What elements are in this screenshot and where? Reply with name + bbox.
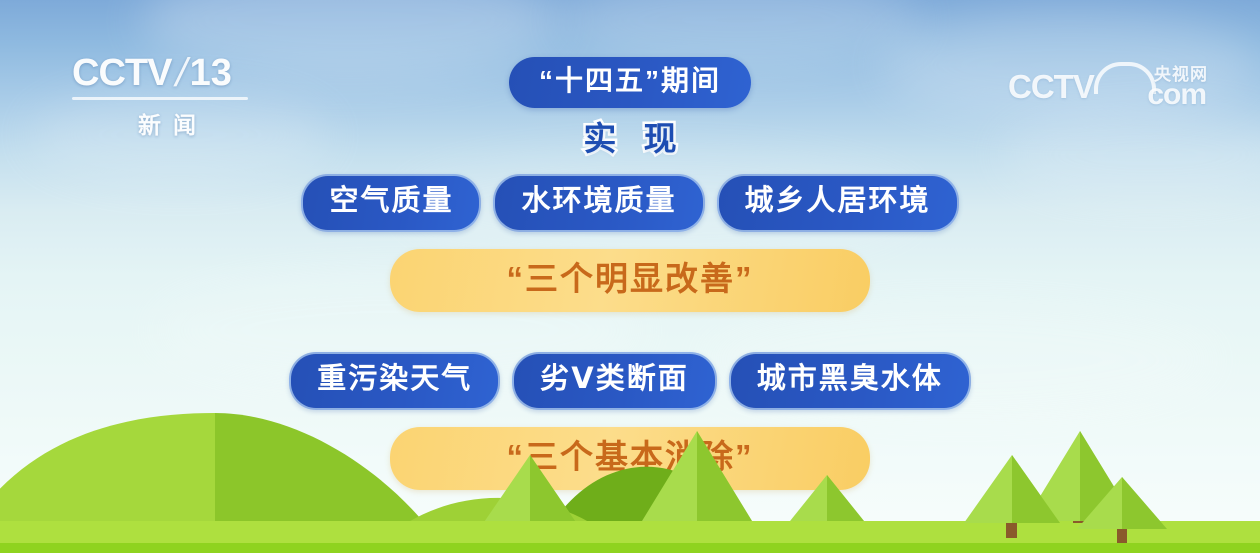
- tree-trunk: [1006, 505, 1017, 538]
- summary-pill: “三个基本消除”: [390, 427, 870, 490]
- tag-row: 空气质量 水环境质量 城乡人居环境: [0, 174, 1260, 232]
- channel-logo-sub-label: 新闻: [72, 106, 262, 140]
- watermark-main-text: CCTV: [1008, 70, 1094, 103]
- tree-trunk: [524, 505, 535, 540]
- tag-pill: 劣Ⅴ类断面: [512, 352, 716, 410]
- content-group-improvements: 空气质量 水环境质量 城乡人居环境 “三个明显改善”: [0, 174, 1260, 312]
- headline-pill: “十四五”期间: [509, 57, 751, 108]
- channel-logo: CCTV / 13 新闻: [72, 50, 262, 130]
- channel-logo-name: CCTV: [72, 54, 171, 92]
- channel-logo-underline: [72, 97, 248, 100]
- summary-pill: “三个明显改善”: [390, 249, 870, 312]
- tag-pill: 空气质量: [301, 174, 481, 232]
- tag-pill: 重污染天气: [289, 352, 500, 410]
- tag-pill: 城市黑臭水体: [729, 352, 971, 410]
- watermark-com-text: com: [1147, 80, 1206, 110]
- content-group-eliminations: 重污染天气 劣Ⅴ类断面 城市黑臭水体 “三个基本消除”: [0, 352, 1260, 490]
- tree-trunk: [690, 485, 703, 523]
- ground-strip: [0, 521, 1260, 553]
- subhead-text: 实 现: [574, 112, 685, 160]
- site-watermark: CCTV 央视网 com: [1008, 58, 1208, 114]
- tag-pill: 水环境质量: [493, 174, 704, 232]
- tree-trunk: [822, 515, 832, 545]
- tag-pill: 城乡人居环境: [717, 174, 959, 232]
- hill-secondary: [380, 498, 620, 543]
- broadcast-frame: CCTV / 13 新闻 CCTV 央视网 com “十四五”期间 实 现 空气…: [0, 0, 1260, 553]
- tree-trunk: [1117, 513, 1127, 543]
- tag-row: 重污染天气 劣Ⅴ类断面 城市黑臭水体: [0, 352, 1260, 410]
- channel-logo-number: 13: [190, 54, 232, 92]
- channel-logo-row: CCTV / 13: [72, 50, 262, 96]
- tree-trunk: [1073, 491, 1086, 523]
- ground-strip-dark: [0, 543, 1260, 553]
